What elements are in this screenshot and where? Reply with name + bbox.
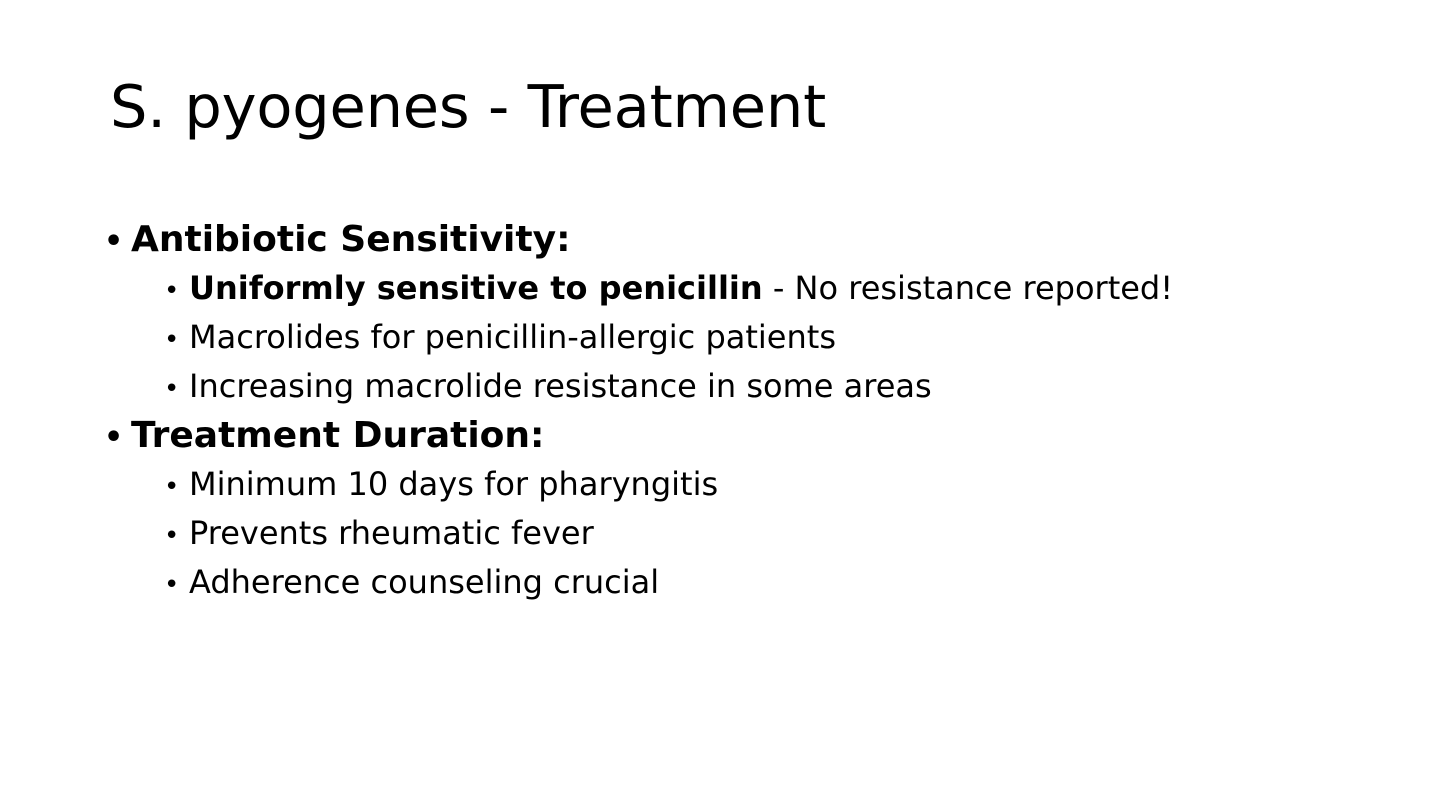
bullet-icon: •: [164, 366, 189, 412]
list-item-label: Treatment Duration:: [131, 412, 1384, 459]
bullet-icon: •: [164, 562, 189, 608]
list-item-label: Prevents rheumatic fever: [189, 510, 1384, 556]
list-item-label: Macrolides for penicillin-allergic patie…: [189, 314, 1384, 360]
list-item: • Adherence counseling crucial: [104, 559, 1384, 608]
list-item-heading: • Antibiotic Sensitivity:: [104, 216, 1384, 265]
list-item-label: Increasing macrolide resistance in some …: [189, 363, 1384, 409]
bullet-icon: •: [164, 317, 189, 363]
list-item: • Minimum 10 days for pharyngitis: [104, 461, 1384, 510]
bullet-icon: •: [104, 414, 131, 461]
list-item-emphasis: Uniformly sensitive to penicillin: [189, 269, 763, 307]
bullet-icon: •: [104, 218, 131, 265]
list-item: • Prevents rheumatic fever: [104, 510, 1384, 559]
list-item-label: Adherence counseling crucial: [189, 559, 1384, 605]
list-item-label: Antibiotic Sensitivity:: [131, 216, 1384, 263]
list-item-heading: • Treatment Duration:: [104, 412, 1384, 461]
list-item-text: - No resistance reported!: [763, 269, 1173, 307]
page-title: S. pyogenes - Treatment: [110, 72, 1350, 142]
bullet-icon: •: [164, 464, 189, 510]
slide-canvas: S. pyogenes - Treatment • Antibiotic Sen…: [0, 0, 1440, 810]
list-item-label: Minimum 10 days for pharyngitis: [189, 461, 1384, 507]
list-item: • Increasing macrolide resistance in som…: [104, 363, 1384, 412]
slide-body: • Antibiotic Sensitivity: • Uniformly se…: [104, 216, 1384, 608]
list-item: • Macrolides for penicillin-allergic pat…: [104, 314, 1384, 363]
bullet-icon: •: [164, 513, 189, 559]
list-item: • Uniformly sensitive to penicillin - No…: [104, 265, 1384, 314]
list-item-label: Uniformly sensitive to penicillin - No r…: [189, 265, 1384, 311]
bullet-icon: •: [164, 268, 189, 314]
